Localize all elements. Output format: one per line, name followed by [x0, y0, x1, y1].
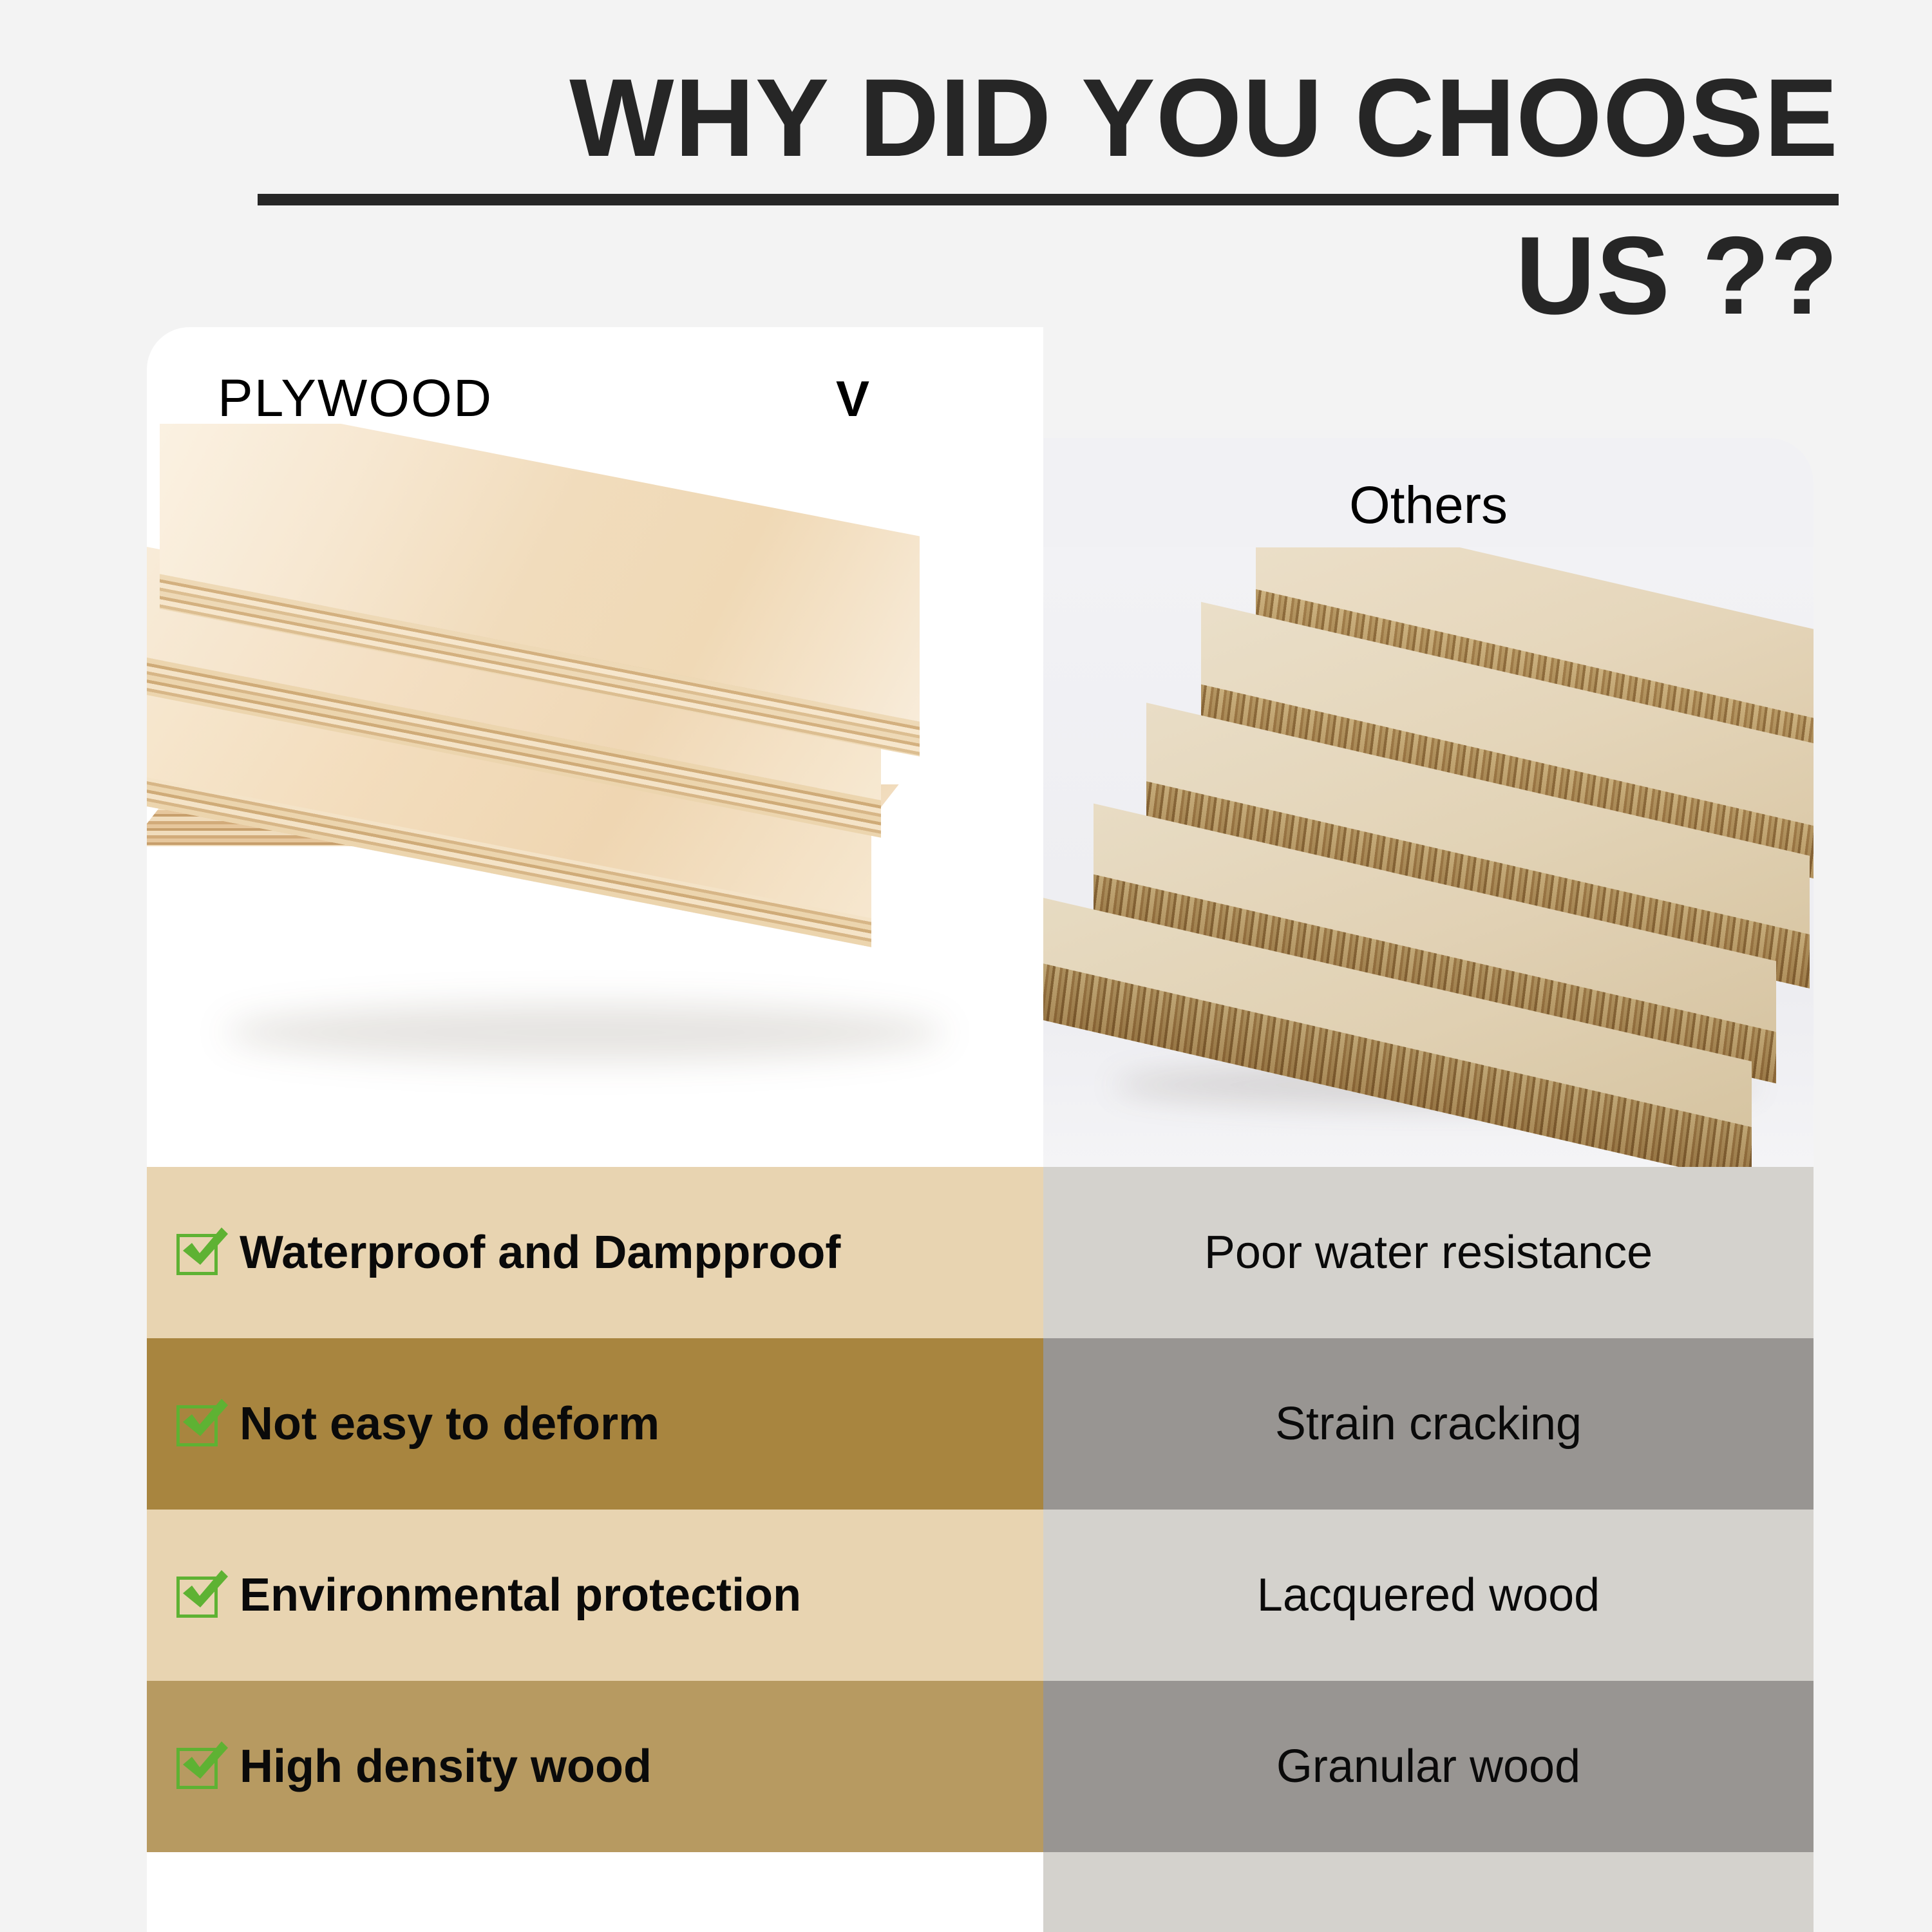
plywood-panel-label: PLYWOOD — [218, 368, 493, 429]
table-row: Strain cracking — [1043, 1338, 1814, 1510]
check-mark-icon — [178, 1226, 228, 1274]
table-row-spacer — [147, 1852, 1043, 1932]
check-mark-icon — [178, 1397, 228, 1445]
check-box-icon — [175, 1229, 223, 1276]
check-box-icon — [175, 1743, 223, 1790]
table-row: Poor water resistance — [1043, 1167, 1814, 1338]
check-mark-icon — [178, 1740, 228, 1788]
table-row: Waterproof and Dampproof — [147, 1167, 1043, 1338]
plywood-panel: PLYWOOD V — [147, 327, 1043, 1932]
feature-label: High density wood — [240, 1740, 652, 1793]
infographic-page: WHY DID YOU CHOOSE US ?? PLYWOOD V — [0, 0, 1932, 1932]
others-drawback-rows: Poor water resistance Strain cracking La… — [1043, 1167, 1814, 1932]
drawback-label: Lacquered wood — [1257, 1569, 1600, 1622]
title-underline-rule — [258, 194, 1839, 205]
check-box-icon — [175, 1571, 223, 1619]
feature-label: Environmental protection — [240, 1569, 801, 1622]
particleboard-stack-image — [1043, 547, 1814, 1169]
others-panel-label: Others — [1043, 475, 1814, 536]
others-panel: Others Poor water resistance Strain crac… — [1043, 438, 1814, 1932]
chevron-down-icon: V — [836, 370, 869, 428]
table-row: Granular wood — [1043, 1681, 1814, 1852]
feature-label: Not easy to deform — [240, 1397, 659, 1450]
drawback-label: Poor water resistance — [1204, 1226, 1653, 1279]
check-mark-icon — [178, 1569, 228, 1616]
table-row: Not easy to deform — [147, 1338, 1043, 1510]
page-title-block: WHY DID YOU CHOOSE US ?? — [0, 62, 1932, 333]
drawback-label: Strain cracking — [1275, 1397, 1582, 1450]
plywood-stack-image — [147, 424, 1043, 1168]
feature-label: Waterproof and Dampproof — [240, 1226, 840, 1279]
check-box-icon — [175, 1400, 223, 1448]
table-row: Lacquered wood — [1043, 1510, 1814, 1681]
table-row: High density wood — [147, 1681, 1043, 1852]
drawback-label: Granular wood — [1276, 1740, 1580, 1793]
page-title-line-2: US ?? — [0, 220, 1887, 332]
table-row: Environmental protection — [147, 1510, 1043, 1681]
page-title-line-1: WHY DID YOU CHOOSE — [0, 62, 1887, 175]
table-row-spacer — [1043, 1852, 1814, 1932]
plywood-feature-rows: Waterproof and Dampproof Not easy to def… — [147, 1167, 1043, 1932]
